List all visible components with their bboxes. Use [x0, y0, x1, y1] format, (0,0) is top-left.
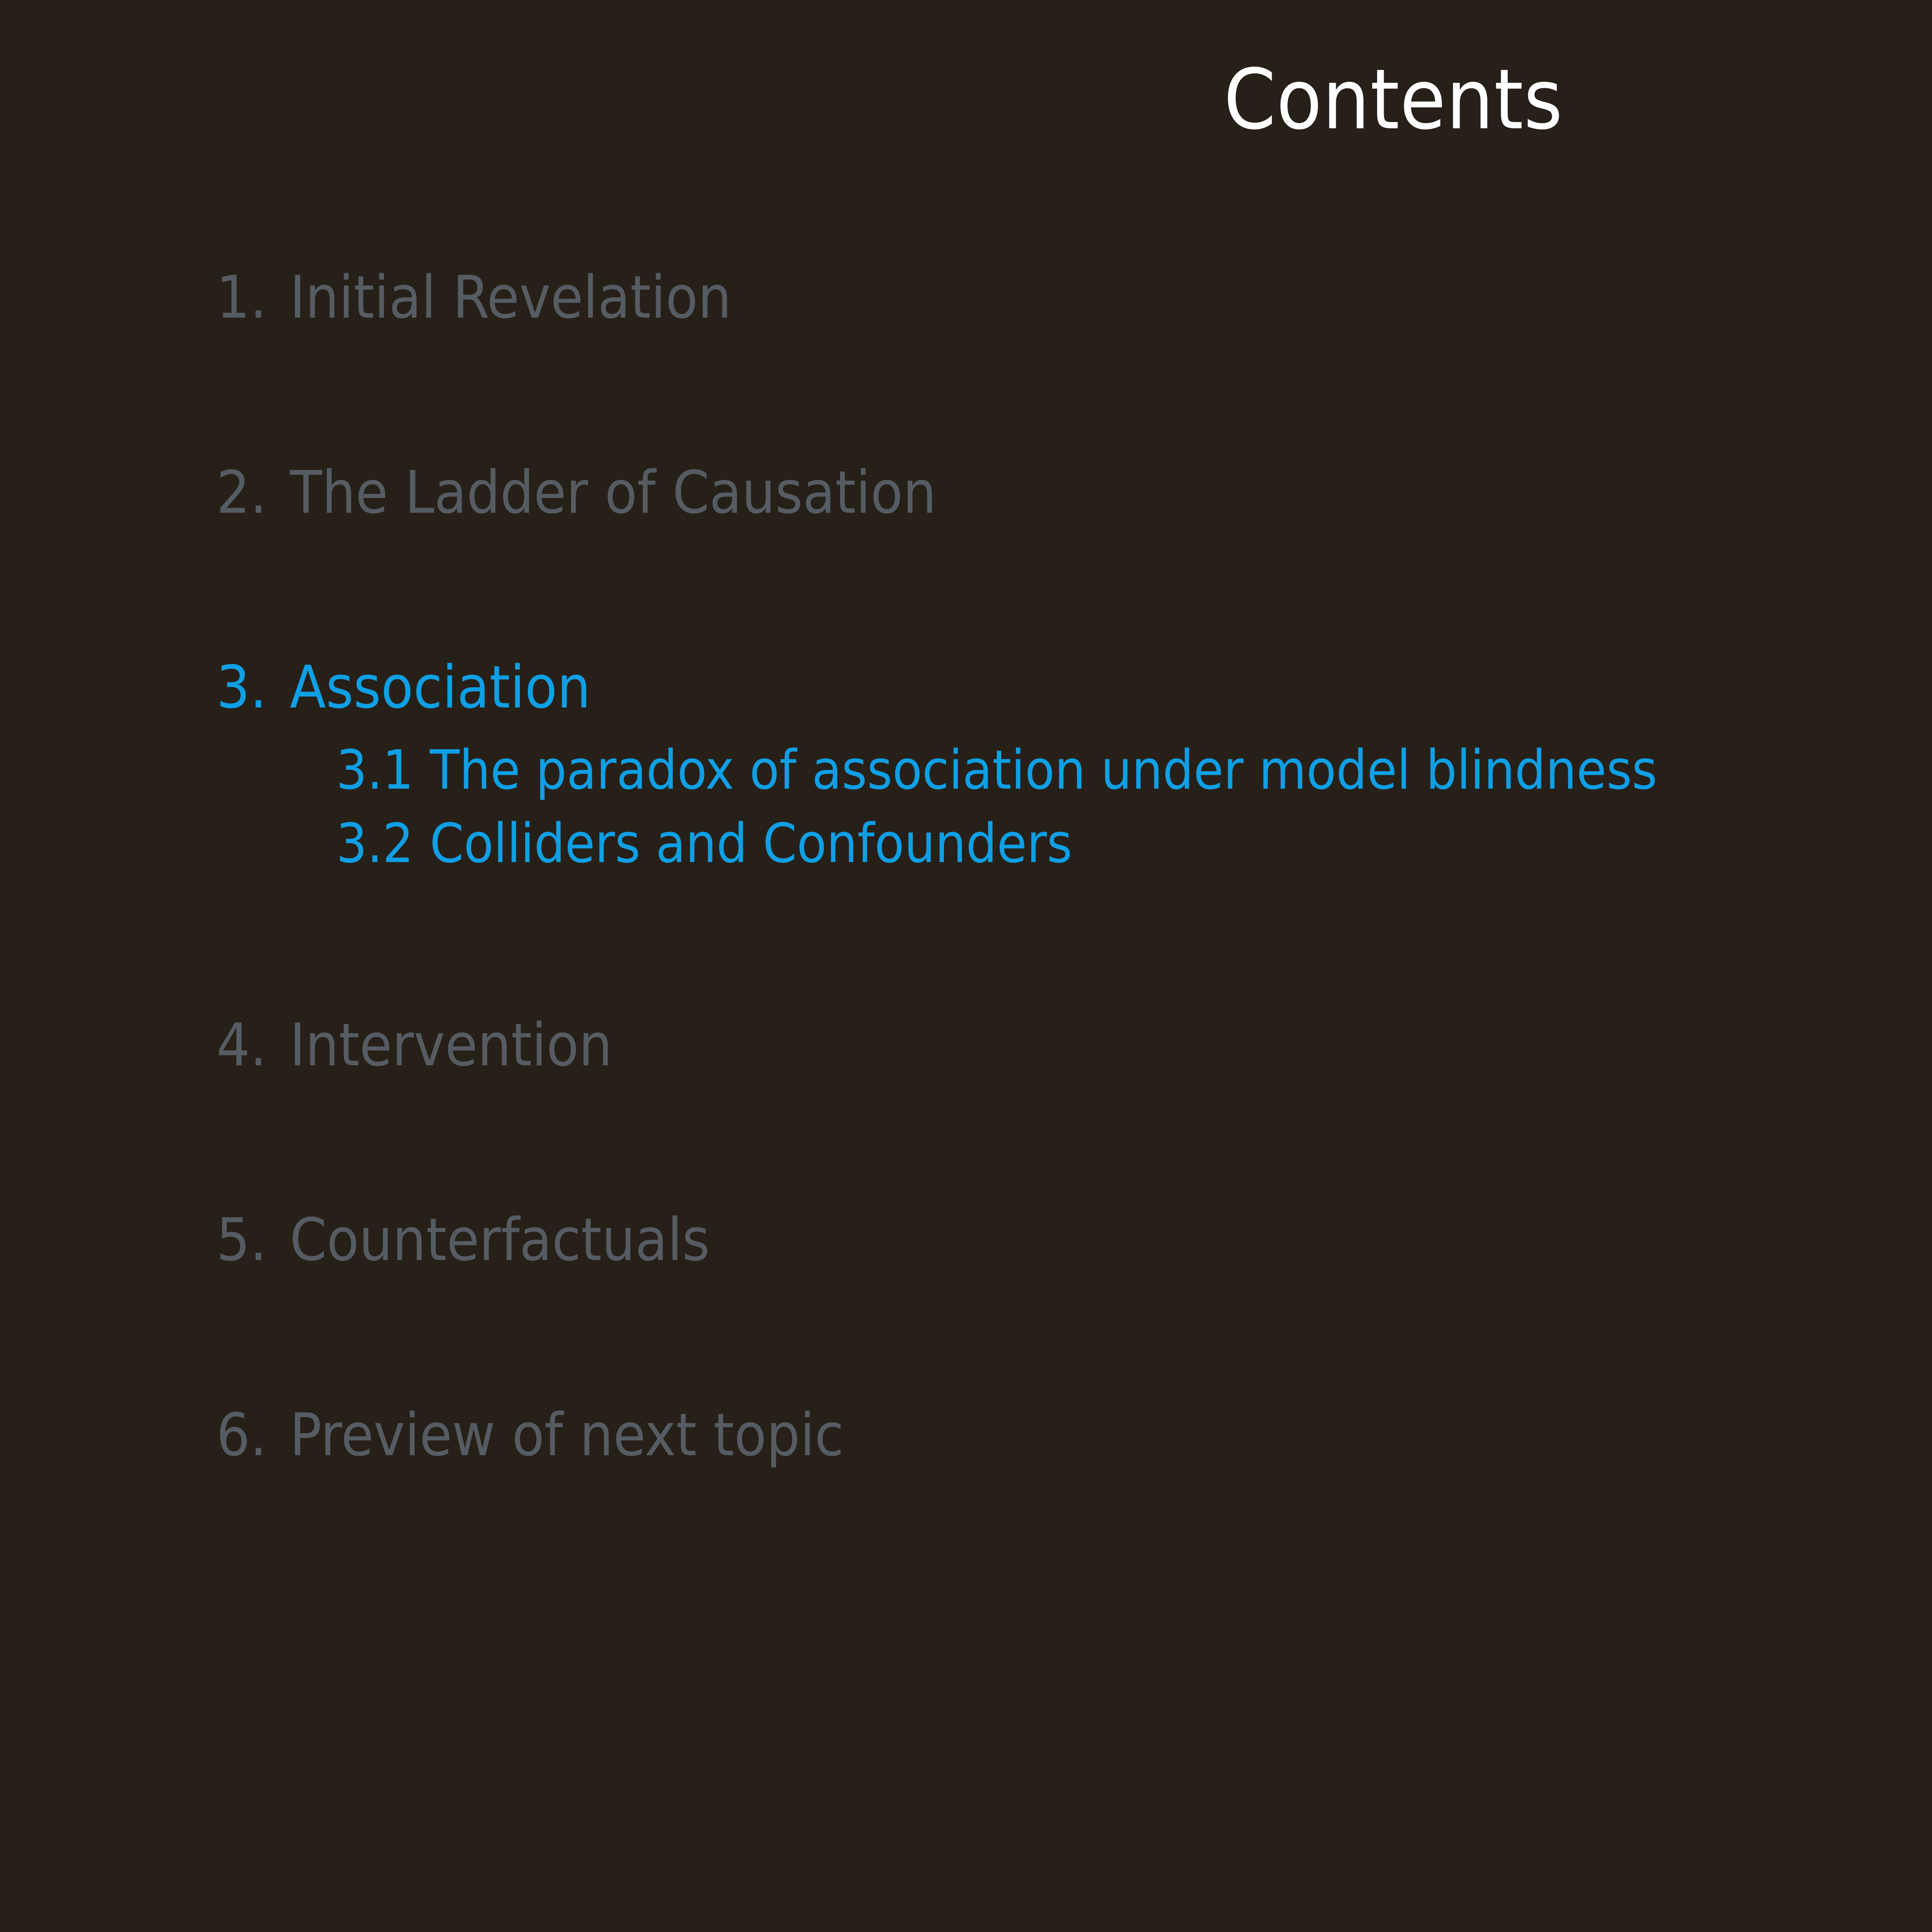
toc-section-label: Intervention	[290, 1014, 612, 1076]
toc-subsection-number: 3.2	[336, 812, 413, 875]
toc-subsection-list: 3.1The paradox of association under mode…	[216, 734, 1932, 881]
toc-subsection-number: 3.1	[336, 739, 413, 802]
toc-section-number: 6.	[216, 1404, 290, 1466]
toc-section-number: 5.	[216, 1209, 290, 1271]
toc-section-label: Counterfactuals	[290, 1209, 710, 1271]
toc-section-label: Preview of next topic	[290, 1404, 844, 1466]
toc-spacer	[216, 523, 1932, 656]
toc-section-5[interactable]: 5.Counterfactuals	[216, 1209, 1932, 1271]
toc-subsection-label: Colliders and Confounders	[430, 812, 1072, 875]
toc-section-label: Initial Revelation	[290, 267, 731, 328]
toc-section-label: The Ladder of Causation	[290, 462, 936, 524]
toc-section-number: 2.	[216, 462, 290, 524]
toc-section-number: 3.	[216, 656, 290, 718]
beamer-slide: Contents 1.Initial Revelation 2.The Ladd…	[0, 0, 1932, 1932]
toc-spacer	[216, 1271, 1932, 1404]
toc-section-3[interactable]: 3.Association	[216, 656, 1932, 718]
toc-spacer	[216, 328, 1932, 462]
toc-subsection-3-2[interactable]: 3.2Colliders and Confounders	[216, 807, 1932, 881]
toc-section-6[interactable]: 6.Preview of next topic	[216, 1404, 1932, 1466]
toc-subsection-3-1[interactable]: 3.1The paradox of association under mode…	[216, 734, 1932, 807]
toc-section-1[interactable]: 1.Initial Revelation	[216, 267, 1932, 328]
toc-subsection-label: The paradox of association under model b…	[430, 739, 1657, 802]
toc-spacer	[216, 881, 1932, 1014]
toc-section-2[interactable]: 2.The Ladder of Causation	[216, 462, 1932, 524]
toc-section-label: Association	[290, 656, 591, 718]
toc-section-number: 4.	[216, 1014, 290, 1076]
toc-spacer	[216, 1076, 1932, 1209]
page-title: Contents	[0, 58, 1932, 141]
table-of-contents: 1.Initial Revelation 2.The Ladder of Cau…	[216, 267, 1932, 1466]
toc-section-4[interactable]: 4.Intervention	[216, 1014, 1932, 1076]
toc-section-number: 1.	[216, 267, 290, 328]
